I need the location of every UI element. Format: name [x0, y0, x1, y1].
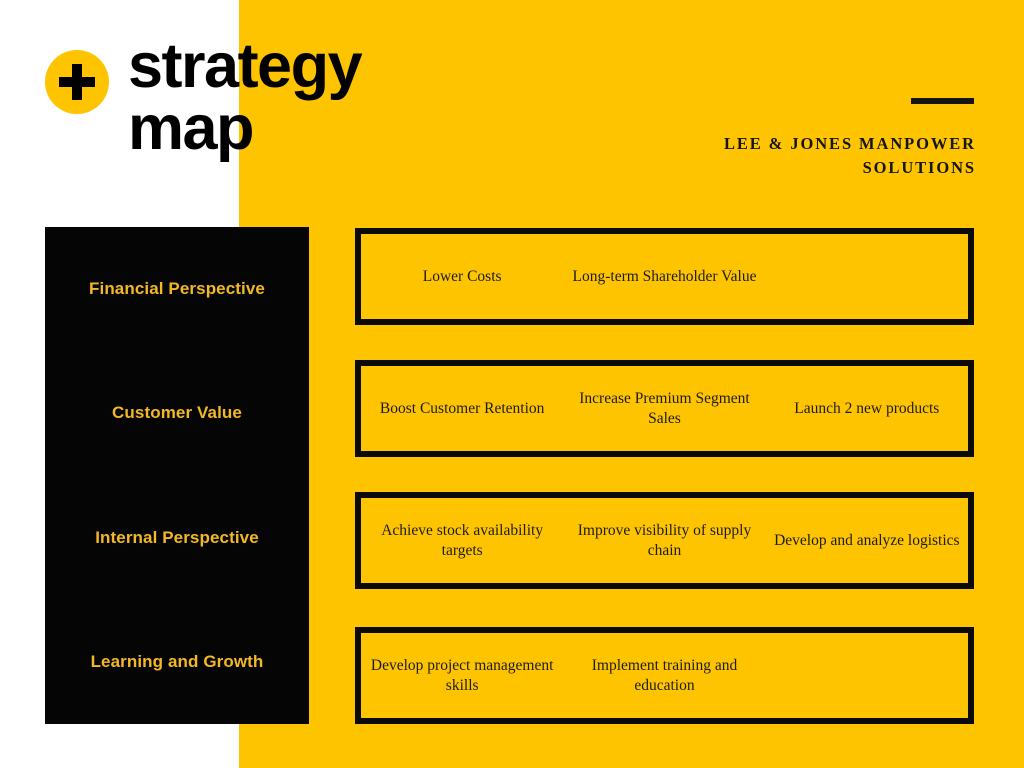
organization-name: LEE & JONES MANPOWER SOLUTIONS: [556, 132, 976, 180]
perspective-label: Financial Perspective: [89, 279, 265, 299]
objective-cell: Boost Customer Retention: [361, 399, 563, 419]
objective-cell: Develop project management skills: [361, 656, 563, 696]
objective-text: Develop project management skills: [367, 656, 557, 696]
organization-name-line-1: LEE & JONES MANPOWER: [556, 132, 976, 156]
objective-row-internal: Achieve stock availability targets Impro…: [355, 492, 974, 589]
perspective-item-internal: Internal Perspective: [45, 476, 309, 600]
plus-icon: [45, 50, 109, 114]
objective-cell: Improve visibility of supply chain: [563, 521, 765, 561]
objective-text: Achieve stock availability targets: [367, 521, 557, 561]
objective-cell: Develop and analyze logistics: [766, 531, 968, 551]
perspective-label: Customer Value: [112, 403, 242, 423]
page-title-line-1: strategy: [128, 36, 688, 98]
objective-text: Develop and analyze logistics: [774, 531, 960, 551]
plus-icon-vertical-bar: [72, 64, 82, 100]
perspective-label: Learning and Growth: [91, 652, 264, 672]
perspective-label: Internal Perspective: [95, 528, 259, 548]
objective-text: Launch 2 new products: [794, 399, 939, 419]
objective-cell: Achieve stock availability targets: [361, 521, 563, 561]
perspective-item-customer-value: Customer Value: [45, 351, 309, 475]
objective-text: Improve visibility of supply chain: [569, 521, 759, 561]
perspective-item-learning-growth: Learning and Growth: [45, 600, 309, 724]
perspective-panel: Financial Perspective Customer Value Int…: [45, 227, 309, 724]
objective-text: Implement training and education: [569, 656, 759, 696]
objective-text: Long-term Shareholder Value: [573, 267, 757, 287]
objective-cell: Launch 2 new products: [766, 399, 968, 419]
objective-text: Lower Costs: [423, 267, 502, 287]
objectives-grid: Lower Costs Long-term Shareholder Value …: [355, 228, 974, 724]
perspective-item-financial: Financial Perspective: [45, 227, 309, 351]
objective-row-learning-growth: Develop project management skills Implem…: [355, 627, 974, 724]
objective-row-financial: Lower Costs Long-term Shareholder Value: [355, 228, 974, 325]
objective-text: Boost Customer Retention: [380, 399, 544, 419]
objective-cell: Lower Costs: [361, 267, 563, 287]
horizontal-rule-icon: [911, 98, 974, 104]
organization-name-line-2: SOLUTIONS: [556, 156, 976, 180]
strategy-map-slide: strategy map LEE & JONES MANPOWER SOLUTI…: [0, 0, 1024, 768]
objective-row-customer-value: Boost Customer Retention Increase Premiu…: [355, 360, 974, 457]
objective-cell: Increase Premium Segment Sales: [563, 389, 765, 429]
objective-cell: Implement training and education: [563, 656, 765, 696]
objective-cell: Long-term Shareholder Value: [563, 267, 765, 287]
objective-text: Increase Premium Segment Sales: [569, 389, 759, 429]
